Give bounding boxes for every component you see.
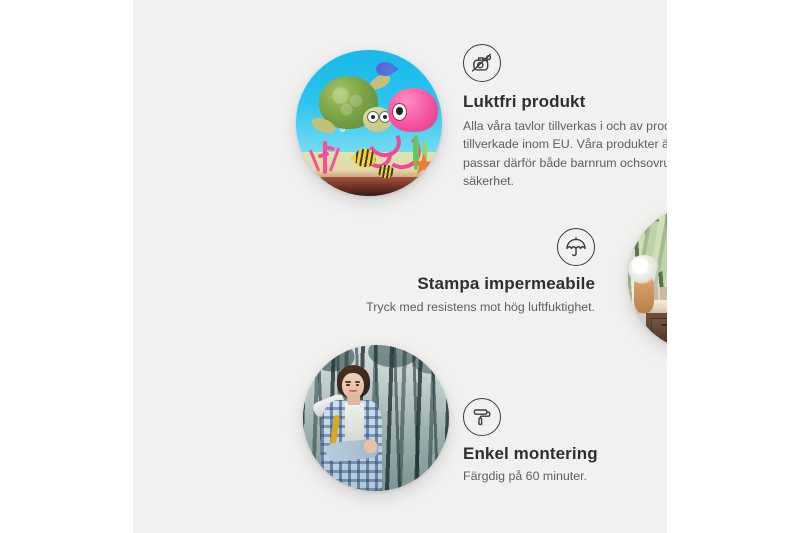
octopus-eye [392, 103, 407, 121]
drawer-handle [661, 324, 667, 326]
hand [364, 440, 377, 453]
feature-waterproof: Stampa impermeabile Tryck med resistens … [333, 228, 595, 316]
flowers [628, 255, 660, 284]
paint-roller-icon [463, 398, 501, 436]
feature-mounting: Enkel montering Färgdig på 60 minuter. [463, 398, 667, 485]
feature-image-mounting [303, 345, 449, 491]
feature-description: Färgdig på 60 minuter. [463, 467, 667, 485]
turtle-eye [367, 111, 380, 123]
yellow-fish [354, 149, 376, 167]
mouth [349, 390, 357, 392]
inner-top [345, 403, 364, 441]
feature-title: Luktfri produkt [463, 92, 667, 112]
sea-bottom-strip [296, 177, 442, 196]
feature-title: Stampa impermeabile [333, 274, 595, 294]
feature-image-waterproof [628, 205, 667, 351]
eyebrow [345, 381, 351, 382]
product-feature-page: Luktfri produkt Alla våra tavlor tillver… [0, 0, 800, 533]
umbrella-icon [557, 228, 595, 266]
eye [346, 384, 350, 386]
feature-description: Alla våra tavlor tillverkas i och av pro… [463, 117, 667, 190]
feature-description: Tryck med resistens mot hög luftfuktighe… [333, 298, 595, 316]
neck [348, 395, 360, 405]
feature-panel: Luktfri produkt Alla våra tavlor tillver… [133, 0, 667, 533]
underwater-kids-scene-art [296, 50, 442, 196]
wooden-vanity [646, 313, 667, 351]
feature-odourless: Luktfri produkt Alla våra tavlor tillver… [463, 44, 667, 190]
woman-with-paint-roller-forest-art [303, 345, 449, 491]
coral [308, 130, 346, 174]
no-perfume-bottle-icon [463, 44, 501, 82]
eyebrow [355, 381, 361, 382]
vanity-drawer [651, 318, 667, 334]
feature-title: Enkel montering [463, 444, 667, 464]
forest-canopy [303, 345, 449, 403]
bathroom-tropical-wallpaper-art [628, 205, 667, 351]
eye [356, 384, 360, 386]
feature-image-odourless [296, 50, 442, 196]
